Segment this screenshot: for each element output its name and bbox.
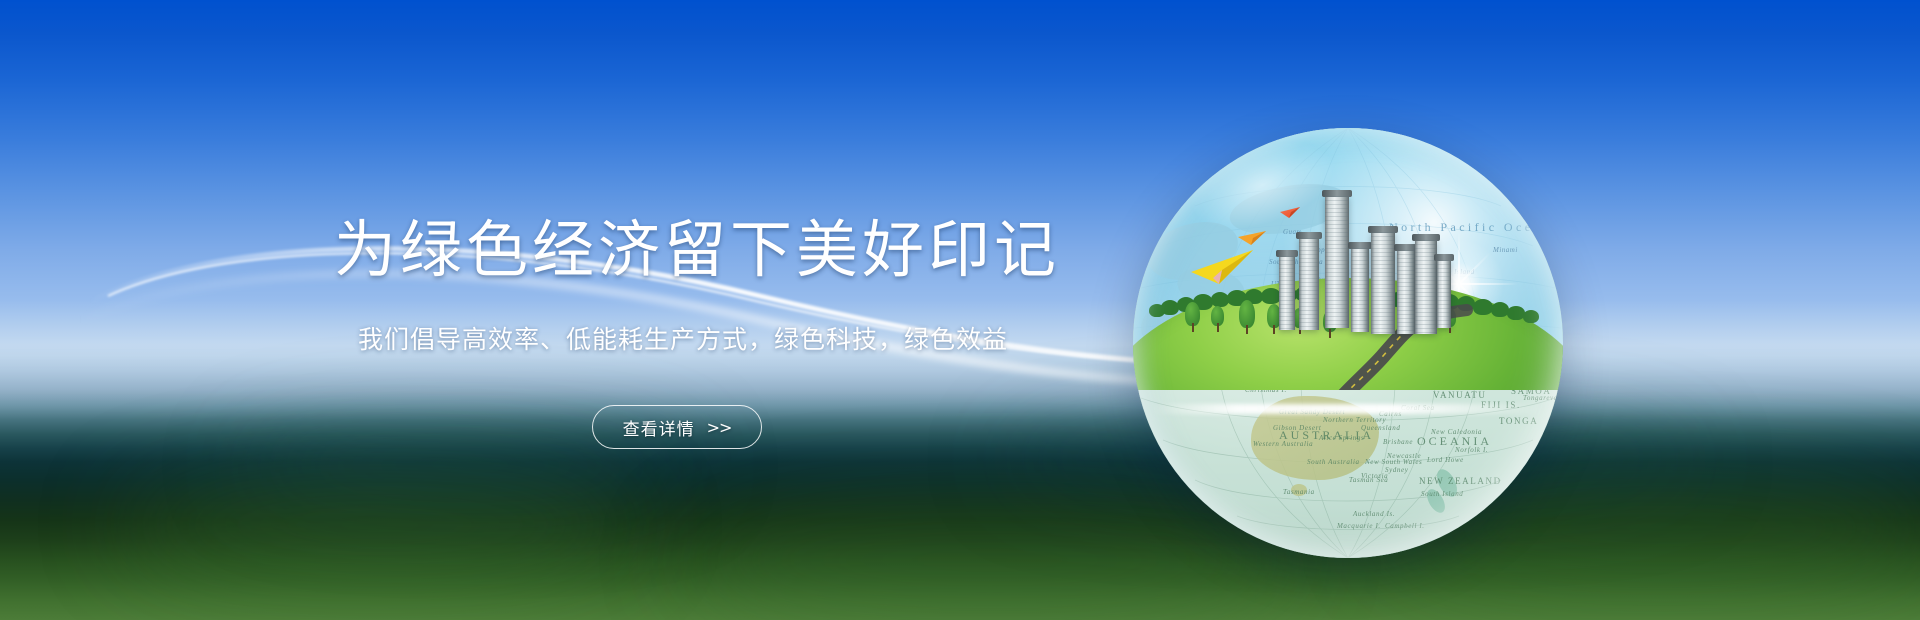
- yellow-paper-plane-icon: [1189, 248, 1255, 286]
- skyscraper: [1437, 260, 1451, 328]
- chevron-right-double-icon: >>: [707, 418, 732, 437]
- globe-equator-highlight: [1151, 404, 1545, 414]
- red-paper-plane-icon: [1279, 206, 1301, 219]
- skyscraper: [1325, 196, 1349, 328]
- hero-banner: AUSTRALIA OCEANIA NEW ZEALAND PAPUA NEW …: [0, 0, 1920, 620]
- orange-paper-plane-icon: [1237, 230, 1267, 246]
- background-sky-gradient: [0, 0, 1920, 620]
- globe-upper-dome: North Pacific Ocean Wake Island Minami C…: [1133, 128, 1563, 390]
- page-title: 为绿色经济留下美好印记: [334, 220, 1060, 282]
- landmass-tasmania: [1291, 484, 1307, 496]
- skyscraper: [1397, 250, 1415, 334]
- page-subtitle: 我们倡导高效率、低能耗生产方式，绿色科技，绿色效益: [358, 328, 1008, 353]
- globe-sphere: AUSTRALIA OCEANIA NEW ZEALAND PAPUA NEW …: [1133, 128, 1563, 558]
- skyscraper: [1351, 248, 1369, 332]
- earth-globe: AUSTRALIA OCEANIA NEW ZEALAND PAPUA NEW …: [1133, 128, 1563, 558]
- view-details-label: 查看详情: [623, 415, 695, 440]
- skyscraper: [1279, 256, 1295, 330]
- view-details-button[interactable]: 查看详情 >>: [592, 405, 762, 449]
- skyscraper: [1299, 238, 1319, 330]
- skyscraper: [1371, 232, 1395, 334]
